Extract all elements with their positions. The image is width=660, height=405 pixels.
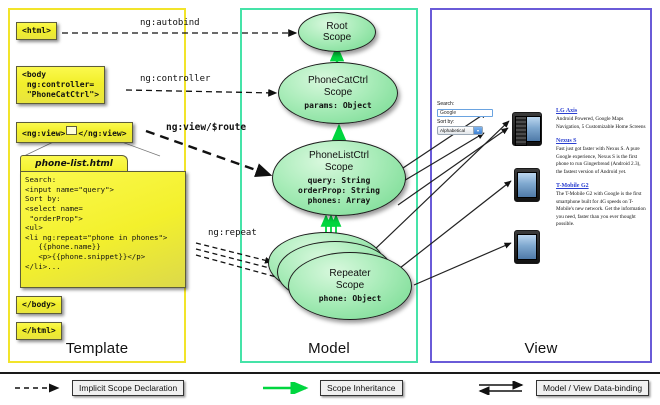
chip-ng-view: <ng:view></ng:view> <box>16 122 133 143</box>
phone-link-t-mobile-g2[interactable]: T-Mobile G2 <box>556 183 648 189</box>
scope-root-title: Root Scope <box>323 21 351 43</box>
legend-label-implicit-scope-declaration: Implicit Scope Declaration <box>72 380 184 396</box>
phone-screen <box>526 116 541 142</box>
scope-root: Root Scope <box>298 12 376 52</box>
scope-phonecatctrl-title: PhoneCatCtrl Scope <box>308 75 368 97</box>
dashed-arrow-icon <box>14 382 66 394</box>
file-card-code: Search: <input name="query"> Sort by: <s… <box>20 171 186 288</box>
chevron-down-icon: ▾ <box>473 127 482 134</box>
file-card-phone-list: phone-list.html Search: <input name="que… <box>20 155 186 288</box>
phone-screen <box>517 172 537 198</box>
ng-view-close-tag: </ng:view> <box>78 129 126 138</box>
sort-by-select[interactable]: Alphabetical ▾ <box>437 126 483 135</box>
keyboard-icon <box>515 116 527 146</box>
scope-phonelistctrl: PhoneListCtrl Scope query: String orderP… <box>272 140 406 216</box>
phone-snippet-nexus-s: Fast just got faster with Nexus S. A pur… <box>556 146 648 176</box>
label-ng-controller: ng:controller <box>140 74 210 84</box>
double-arrow-icon <box>478 381 530 395</box>
label-ng-repeat: ng:repeat <box>208 228 257 238</box>
phone-thumbnail-nexus-s <box>514 168 540 202</box>
legend-item-model-view-data-binding: Model / View Data-binding <box>478 380 649 396</box>
label-ng-autobind: ng:autobind <box>140 18 200 28</box>
phone-listing: LG Axis Android Powered, Google Maps Nav… <box>556 108 648 229</box>
legend-divider <box>0 372 660 374</box>
scope-phonelistctrl-title: PhoneListCtrl Scope <box>309 150 369 172</box>
view-search-widget: Search: Google Sort by: Alphabetical ▾ <box>437 101 497 135</box>
search-input[interactable]: Google <box>437 109 493 117</box>
legend-label-model-view-data-binding: Model / View Data-binding <box>536 380 649 396</box>
phone-thumbnail-lg-axis <box>512 112 542 146</box>
sort-by-value: Alphabetical <box>440 128 465 133</box>
chip-html-open: <html> <box>16 22 57 40</box>
scope-repeater: Repeater Scope phone: Object <box>288 252 412 320</box>
sort-by-label: Sort by: <box>437 119 497 126</box>
chip-html-close: </html> <box>16 322 62 340</box>
scope-phonecatctrl: PhoneCatCtrl Scope params: Object <box>278 62 398 124</box>
phone-thumbnail-t-mobile-g2 <box>514 230 540 264</box>
label-ng-view-route: ng:view/$route <box>166 122 246 133</box>
scope-phonelistctrl-props: query: String orderProp: String phones: … <box>298 176 380 206</box>
ng-view-slot-icon <box>66 126 77 135</box>
panel-template-label: Template <box>10 340 184 357</box>
panel-view-label: View <box>432 340 650 357</box>
phone-screen <box>517 234 537 260</box>
diagram-canvas: Template Model View <box>0 0 660 405</box>
legend: Implicit Scope Declaration Scope Inherit… <box>0 372 660 405</box>
scope-repeater-stack: Repeater Scope phone: Object <box>268 232 414 328</box>
legend-item-implicit-scope-declaration: Implicit Scope Declaration <box>14 380 184 396</box>
green-arrow-icon <box>262 382 314 394</box>
scope-phonecatctrl-props: params: Object <box>304 101 371 111</box>
legend-label-scope-inheritance: Scope Inheritance <box>320 380 403 396</box>
phone-snippet-lg-axis: Android Powered, Google Maps Navigation,… <box>556 116 648 131</box>
file-card-filename: phone-list.html <box>20 155 128 172</box>
phone-link-lg-axis[interactable]: LG Axis <box>556 108 648 114</box>
phone-snippet-t-mobile-g2: The T-Mobile G2 with Google is the first… <box>556 191 648 229</box>
scope-repeater-title: Repeater Scope <box>329 268 370 290</box>
chip-body-open: <body ng:controller= "PhoneCatCtrl"> <box>16 66 105 104</box>
scope-repeater-props: phone: Object <box>319 294 382 304</box>
search-label: Search: <box>437 101 497 108</box>
phone-link-nexus-s[interactable]: Nexus S <box>556 138 648 144</box>
chip-body-close: </body> <box>16 296 62 314</box>
ng-view-open-tag: <ng:view> <box>22 129 65 138</box>
legend-item-scope-inheritance: Scope Inheritance <box>262 380 403 396</box>
panel-model-label: Model <box>242 340 416 357</box>
